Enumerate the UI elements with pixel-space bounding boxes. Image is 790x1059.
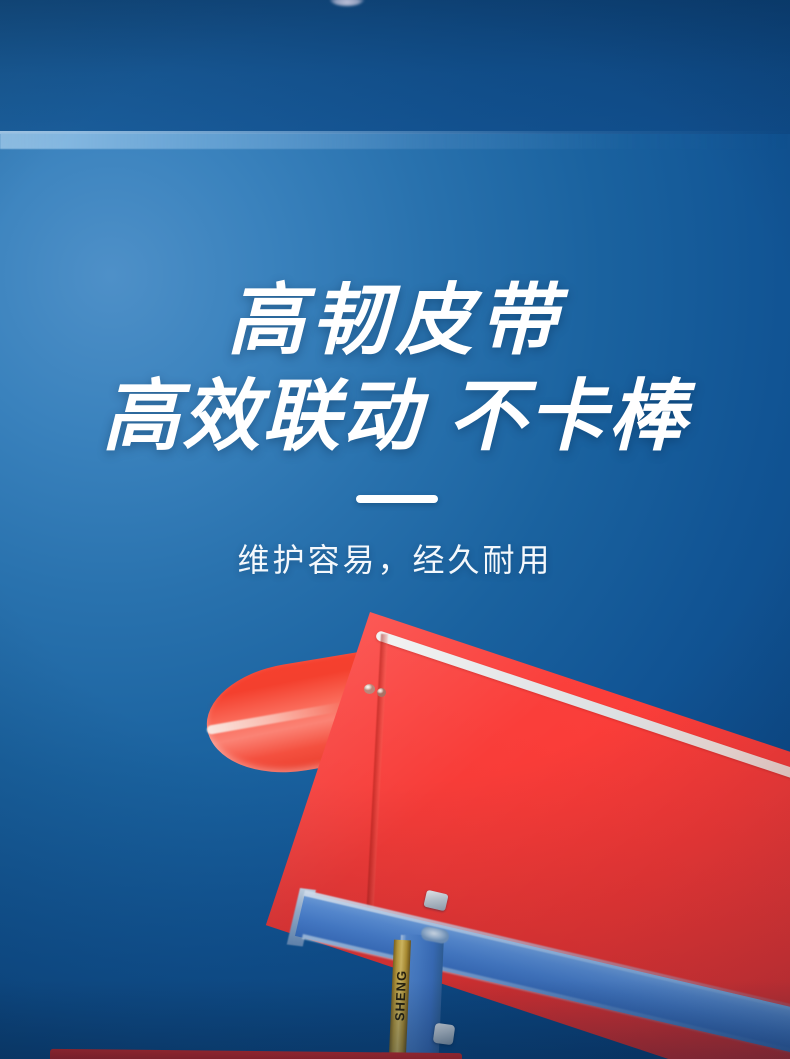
vignette-overlay xyxy=(0,0,790,1059)
promo-banner: 高韧皮带 高效联动不卡棒 维护容易，经久耐用 SHENG xyxy=(0,0,790,1059)
